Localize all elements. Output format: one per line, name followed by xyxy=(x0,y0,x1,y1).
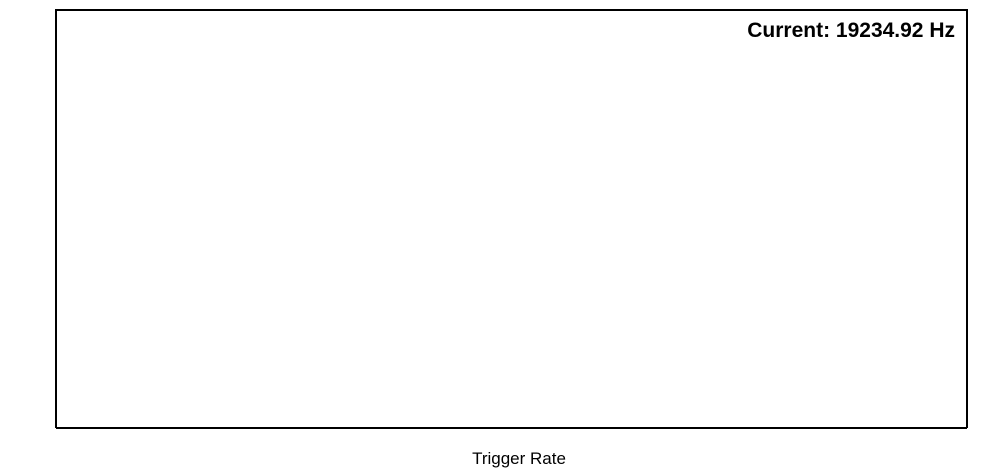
plot-background xyxy=(0,0,996,472)
x-axis-title: Trigger Rate xyxy=(472,449,566,468)
current-value-label: Current: 19234.92 Hz xyxy=(747,19,955,42)
histogram-plot: Trigger Rate Current: 19234.92 Hz xyxy=(0,0,996,472)
root-canvas-histogram: Trigger Rate Current: 19234.92 Hz xyxy=(0,0,996,472)
